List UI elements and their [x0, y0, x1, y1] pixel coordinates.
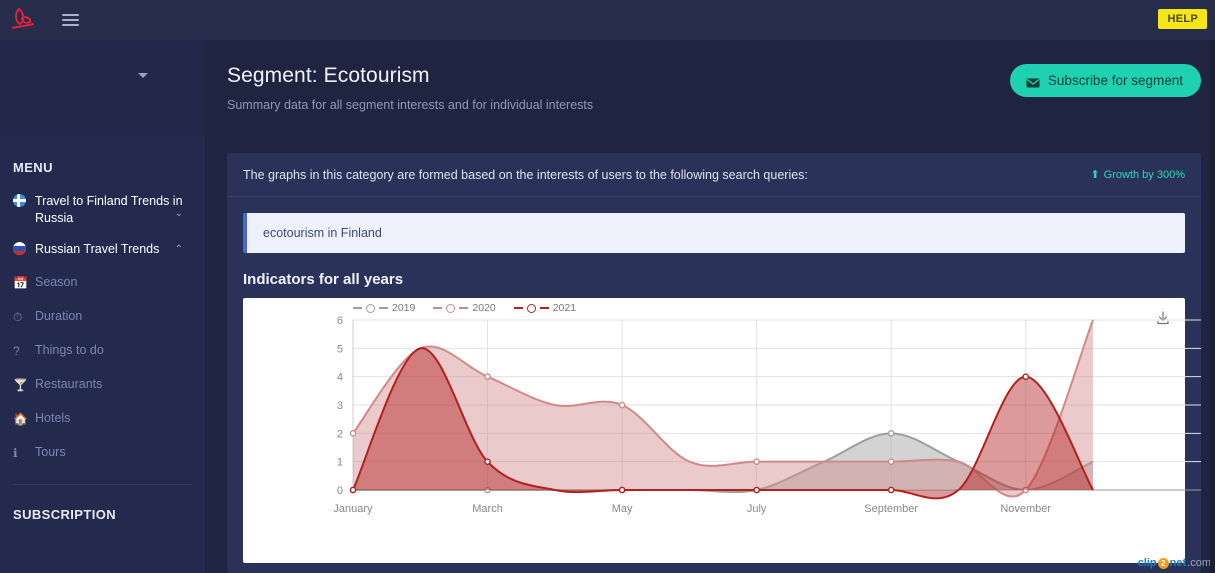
- main-content: Segment: Ecotourism Summary data for all…: [205, 40, 1215, 573]
- sidebar-item-label: Season: [35, 274, 192, 291]
- clip2net-watermark: clip 2 net .com: [1138, 557, 1211, 569]
- svg-text:1: 1: [337, 457, 343, 469]
- app-root: HELP MENU Travel to Finland Trends in Ru…: [0, 0, 1215, 573]
- legend-line-icon: [353, 307, 362, 309]
- envelope-icon: [1026, 76, 1040, 86]
- hotel-icon: 🏠: [13, 410, 35, 428]
- chart-plot-area: 0123456JanuaryMarchMayJulySeptemberNovem…: [243, 312, 1201, 562]
- hamburger-bar: [62, 24, 79, 26]
- sidebar-item-restaurants[interactable]: 🍸 Restaurants: [0, 368, 205, 402]
- sidebar-item-label: Travel to Finland Trends in Russia: [35, 193, 185, 227]
- arrow-up-icon: ⬆: [1090, 170, 1099, 181]
- clock-icon: ⏱: [13, 308, 35, 326]
- legend-line-icon: [379, 307, 388, 309]
- sidebar-item-things-to-do[interactable]: ? Things to do: [0, 334, 205, 368]
- watermark-com: .com: [1187, 557, 1211, 569]
- search-query-label: ecotourism in Finland: [263, 226, 382, 240]
- svg-text:5: 5: [337, 343, 343, 355]
- sidebar-item-label: Restaurants: [35, 376, 192, 393]
- chevron-up-icon[interactable]: ⌃: [175, 241, 183, 258]
- cocktail-icon: 🍸: [13, 376, 35, 394]
- watermark-two: 2: [1158, 558, 1169, 569]
- info-icon: ℹ: [13, 444, 35, 462]
- sidebar-item-label: Hotels: [35, 410, 192, 427]
- sidebar-account-area: [0, 40, 205, 136]
- svg-text:January: January: [333, 503, 373, 515]
- svg-text:November: November: [1000, 503, 1051, 515]
- watermark-clip: clip: [1138, 557, 1157, 569]
- svg-text:6: 6: [337, 315, 343, 327]
- svg-text:September: September: [864, 503, 918, 515]
- hamburger-menu[interactable]: [62, 14, 79, 26]
- page-header: Segment: Ecotourism Summary data for all…: [205, 40, 1215, 133]
- svg-text:0: 0: [337, 485, 343, 497]
- watermark-net: net: [1170, 557, 1187, 569]
- growth-label: Growth by 300%: [1104, 169, 1185, 181]
- legend-line-icon: [514, 307, 523, 309]
- sidebar-item-label: Russian Travel Trends: [35, 241, 192, 258]
- indicators-chart: 2019 2020 2021 0123456Jan: [243, 298, 1185, 563]
- flag-russia-icon: [13, 241, 35, 255]
- sidebar-item-russian-travel-trends[interactable]: Russian Travel Trends ⌃: [0, 233, 205, 266]
- sidebar-item-season[interactable]: 📅 Season: [0, 266, 205, 300]
- svg-text:3: 3: [337, 400, 343, 412]
- svg-text:March: March: [472, 503, 503, 515]
- legend-line-icon: [459, 307, 468, 309]
- hamburger-bar: [62, 19, 79, 21]
- sidebar-item-label: Things to do: [35, 342, 192, 359]
- page-subtitle: Summary data for all segment interests a…: [227, 98, 1195, 112]
- svg-text:4: 4: [337, 372, 343, 384]
- section-title: Indicators for all years: [227, 253, 1201, 298]
- sidebar-item-hotels[interactable]: 🏠 Hotels: [0, 402, 205, 436]
- top-bar: HELP: [0, 0, 1215, 40]
- legend-line-icon: [433, 307, 442, 309]
- card-description: The graphs in this category are formed b…: [243, 168, 808, 182]
- sidebar-item-label: Duration: [35, 308, 192, 325]
- legend-line-icon: [540, 307, 549, 309]
- card-header: The graphs in this category are formed b…: [227, 153, 1201, 197]
- page-scrollbar[interactable]: [1210, 40, 1215, 573]
- search-query-item[interactable]: ecotourism in Finland: [243, 213, 1185, 253]
- question-icon: ?: [13, 342, 35, 360]
- help-button[interactable]: HELP: [1158, 9, 1207, 29]
- leaf-logo[interactable]: [0, 5, 48, 35]
- sidebar-item-travel-to-finland[interactable]: Travel to Finland Trends in Russia ⌄: [0, 185, 205, 233]
- sidebar-nav: MENU Travel to Finland Trends in Russia …: [0, 136, 205, 573]
- sidebar-item-tours[interactable]: ℹ Tours: [0, 436, 205, 470]
- sidebar-item-duration[interactable]: ⏱ Duration: [0, 300, 205, 334]
- svg-text:2: 2: [337, 428, 343, 440]
- svg-text:May: May: [612, 503, 633, 515]
- sidebar-menu-heading: MENU: [0, 136, 205, 185]
- growth-badge: ⬆ Growth by 300%: [1090, 169, 1185, 181]
- sidebar-item-label: Tours: [35, 444, 192, 461]
- hamburger-bar: [62, 14, 79, 16]
- sidebar: MENU Travel to Finland Trends in Russia …: [0, 40, 205, 573]
- chevron-down-icon[interactable]: [138, 73, 148, 78]
- segment-card: The graphs in this category are formed b…: [227, 153, 1201, 573]
- flag-finland-icon: [13, 193, 35, 207]
- calendar-icon: 📅: [13, 274, 35, 292]
- subscribe-label: Subscribe for segment: [1048, 73, 1183, 88]
- subscribe-for-segment-button[interactable]: Subscribe for segment: [1010, 64, 1201, 97]
- sidebar-subscription-heading: SUBSCRIPTION: [0, 485, 205, 522]
- chevron-down-icon[interactable]: ⌄: [175, 205, 183, 222]
- svg-text:July: July: [747, 503, 767, 515]
